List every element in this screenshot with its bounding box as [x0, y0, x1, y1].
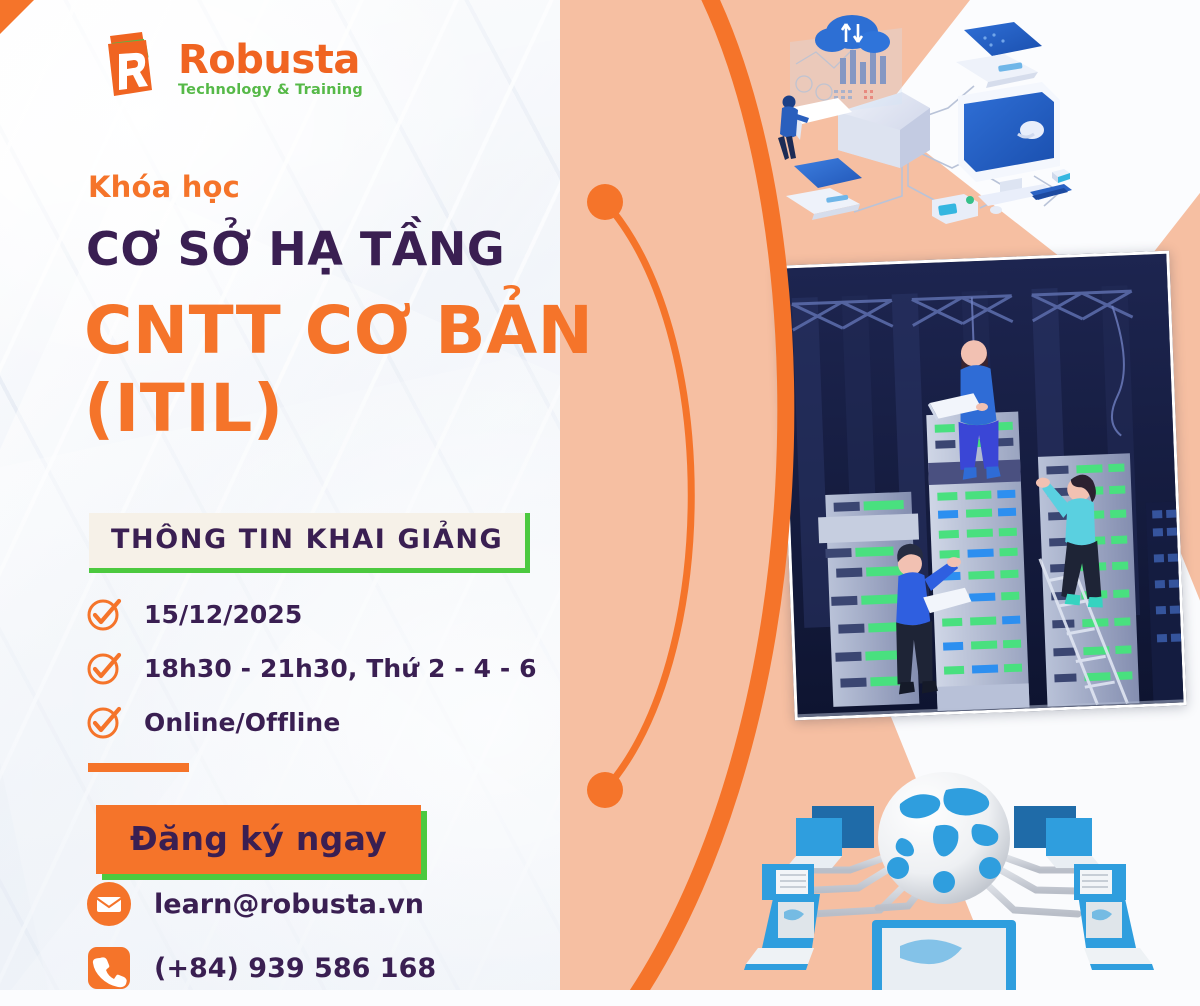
course-title-line-3: (ITIL): [84, 370, 284, 447]
robusta-logo[interactable]: Robusta Technology & Training: [86, 30, 363, 108]
course-title-line-1: CƠ SỞ HẠ TẦNG: [86, 222, 505, 276]
global-network-illustration: [700, 752, 1200, 1006]
list-item: 15/12/2025: [86, 596, 537, 632]
email-icon: [86, 881, 132, 927]
list-item: Online/Offline: [86, 704, 537, 740]
orange-corner-triangle: [0, 0, 34, 34]
register-button[interactable]: Đăng ký ngay: [96, 805, 421, 874]
robusta-r-logo-icon: [86, 30, 164, 108]
schedule-badge-label: THÔNG TIN KHAI GIẢNG: [111, 524, 503, 555]
orange-divider-bar: [88, 763, 189, 772]
circle-check-icon: [86, 650, 122, 686]
phone-icon: [86, 945, 132, 991]
schedule-badge: THÔNG TIN KHAI GIẢNG: [89, 513, 530, 568]
logo-tagline: Technology & Training: [178, 83, 363, 98]
course-kicker: Khóa học: [88, 170, 240, 204]
contact-email-row[interactable]: learn@robusta.vn: [86, 880, 436, 928]
schedule-item-text: 15/12/2025: [144, 600, 302, 629]
circle-check-icon: [86, 704, 122, 740]
circle-check-icon: [86, 596, 122, 632]
data-center-illustration: [777, 251, 1186, 721]
register-cta-wrapper: Đăng ký ngay: [96, 805, 421, 874]
contact-email-text: learn@robusta.vn: [154, 889, 424, 920]
contact-phone-text: (+84) 939 586 168: [154, 953, 436, 984]
contact-phone-row[interactable]: (+84) 939 586 168: [86, 944, 436, 992]
schedule-list: 15/12/2025 18h30 - 21h30, Thứ 2 - 4 - 6 …: [86, 596, 537, 740]
schedule-badge-wrapper: THÔNG TIN KHAI GIẢNG: [89, 513, 530, 568]
contact-list: learn@robusta.vn (+84) 939 586 168: [86, 880, 436, 992]
register-button-label: Đăng ký ngay: [130, 819, 387, 858]
logo-word: Robusta: [178, 40, 363, 80]
list-item: 18h30 - 21h30, Thứ 2 - 4 - 6: [86, 650, 537, 686]
isometric-network-illustration: [742, 0, 1200, 258]
logo-wordmark: Robusta Technology & Training: [178, 40, 363, 98]
schedule-item-text: Online/Offline: [144, 708, 340, 737]
bottom-white-strip: [0, 990, 1200, 1006]
course-title-line-2: CNTT CƠ BẢN: [84, 295, 593, 366]
schedule-item-text: 18h30 - 21h30, Thứ 2 - 4 - 6: [144, 654, 537, 683]
course-announcement-poster: Robusta Technology & Training Khóa học C…: [0, 0, 1200, 1006]
